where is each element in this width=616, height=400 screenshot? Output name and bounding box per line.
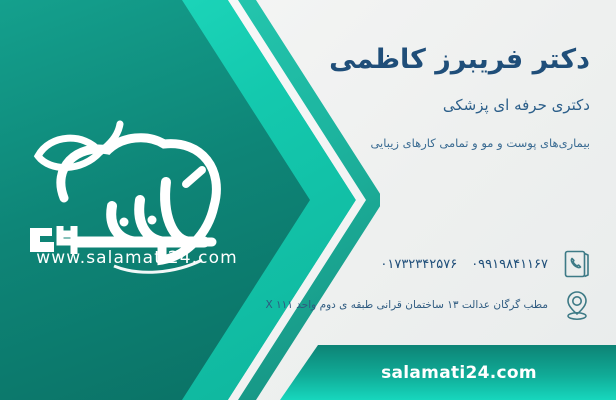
doctor-name: دکتر فریبرز کاظمی: [329, 44, 590, 75]
phone-book-icon: [560, 246, 594, 282]
phone-number-2[interactable]: ۰۱۷۳۲۳۴۲۵۷۶: [380, 257, 457, 272]
contact-address-row: مطب گرگان عدالت ۱۳ ساختمان قرانی طبقه ی …: [265, 287, 594, 323]
doctor-specialty: بیماری‌های پوست و مو و تمامی کارهای زیبا…: [370, 136, 590, 150]
phone-number-1[interactable]: ۰۹۹۱۹۸۴۱۱۶۷: [471, 257, 548, 272]
map-pin-icon: [560, 287, 594, 323]
business-card: www.salamati24.com دکتر فریبرز کاظمی دکت…: [0, 0, 616, 400]
contact-phone-row: ۰۹۹۱۹۸۴۱۱۶۷ ۰۱۷۳۲۳۴۲۵۷۶: [380, 246, 594, 282]
logo-website-url[interactable]: www.salamati24.com: [14, 248, 260, 268]
phone-numbers[interactable]: ۰۹۹۱۹۸۴۱۱۶۷ ۰۱۷۳۲۳۴۲۵۷۶: [380, 257, 548, 272]
footer-website[interactable]: salamati24.com: [381, 363, 537, 383]
footer-bar: salamati24.com: [280, 345, 616, 400]
clinic-address: مطب گرگان عدالت ۱۳ ساختمان قرانی طبقه ی …: [265, 299, 548, 311]
doctor-degree: دکتری حرفه ای پزشکی: [443, 96, 590, 114]
